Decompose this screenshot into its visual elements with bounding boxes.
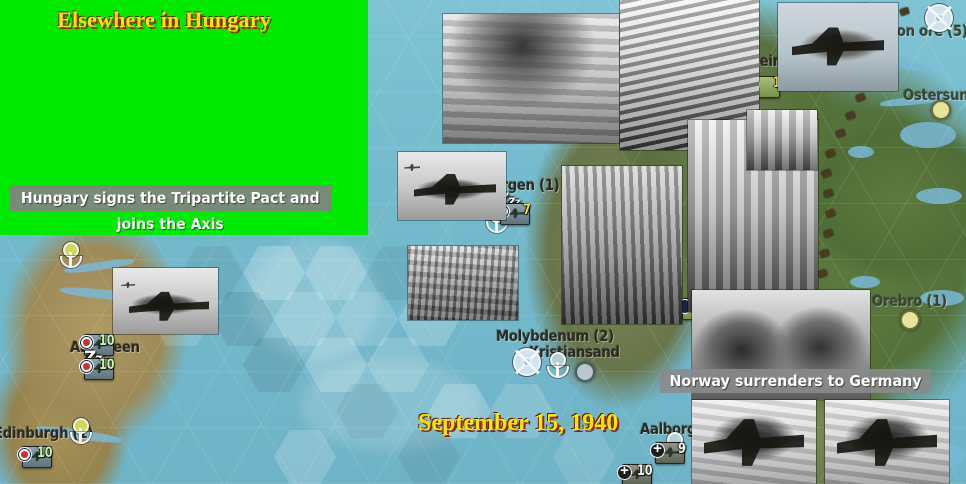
anchor-icon: [60, 256, 82, 268]
overlay-photo-stuka-left[interactable]: [692, 400, 816, 484]
city-marker-kristiansand[interactable]: [575, 362, 595, 382]
iron-mine-icon[interactable]: [925, 4, 953, 32]
overlay-photo-burning-ship[interactable]: [443, 14, 619, 143]
anchor-icon: [70, 432, 92, 444]
unit-counter[interactable]: 10: [622, 464, 652, 484]
overlay-photo-stuka-right[interactable]: [825, 400, 949, 484]
port-icon[interactable]: [66, 416, 96, 446]
city-marker-orebro[interactable]: [900, 310, 920, 330]
event-popup-panel[interactable]: Elsewhere in Hungary Hungary signs the T…: [0, 0, 368, 235]
photo-image: [408, 246, 518, 320]
overlay-photo-bomber[interactable]: [778, 3, 898, 91]
unit-strength: 10: [636, 463, 652, 479]
photo-image: [562, 166, 682, 324]
city-marker-ostersund[interactable]: [931, 100, 951, 120]
unit-strength: 10: [98, 333, 114, 349]
event-title: Elsewhere in Hungary: [44, 7, 284, 33]
game-screen: Aberdeen Edinburgh (1) Bergen (1) Trondh…: [0, 0, 966, 484]
mine-center: [522, 357, 532, 367]
unit-counter[interactable]: 9: [655, 442, 685, 464]
map-label-orebro: Orebro (1): [872, 292, 947, 310]
raf-roundel-icon: [18, 448, 31, 461]
unit-strength: 9: [678, 441, 686, 457]
event-photo: [22, 13, 317, 168]
photo-image: [443, 14, 619, 143]
unit-counter[interactable]: 10: [22, 446, 52, 468]
overlay-photo-prisoner-column[interactable]: [408, 246, 518, 320]
port-icon[interactable]: [56, 240, 86, 270]
unit-counter[interactable]: 10: [84, 358, 114, 380]
molybdenum-mine-icon[interactable]: [513, 348, 541, 376]
overlay-photo-spitfire[interactable]: [398, 152, 506, 220]
raf-roundel-icon: [80, 360, 93, 373]
balkenkreuz-icon: [618, 466, 631, 479]
anchor-icon: [547, 366, 569, 378]
overlay-photo-officers-street[interactable]: [562, 166, 682, 324]
overlay-photo-north-sea-spitfire[interactable]: [113, 268, 218, 334]
photo-image: [747, 110, 817, 170]
turn-date: September 15, 1940: [418, 410, 618, 437]
mine-center: [934, 13, 944, 23]
overlay-photo-parade-building[interactable]: [747, 110, 817, 170]
event-caption: Hungary signs the Tripartite Pact and jo…: [9, 185, 331, 211]
unit-strength: 7: [523, 202, 531, 218]
port-icon[interactable]: [543, 350, 573, 380]
unit-strength: 10: [98, 357, 114, 373]
balkenkreuz-icon: [651, 444, 664, 457]
unit-strength: 10: [36, 445, 52, 461]
banner-norway-surrender: Norway surrenders to Germany: [660, 369, 931, 393]
